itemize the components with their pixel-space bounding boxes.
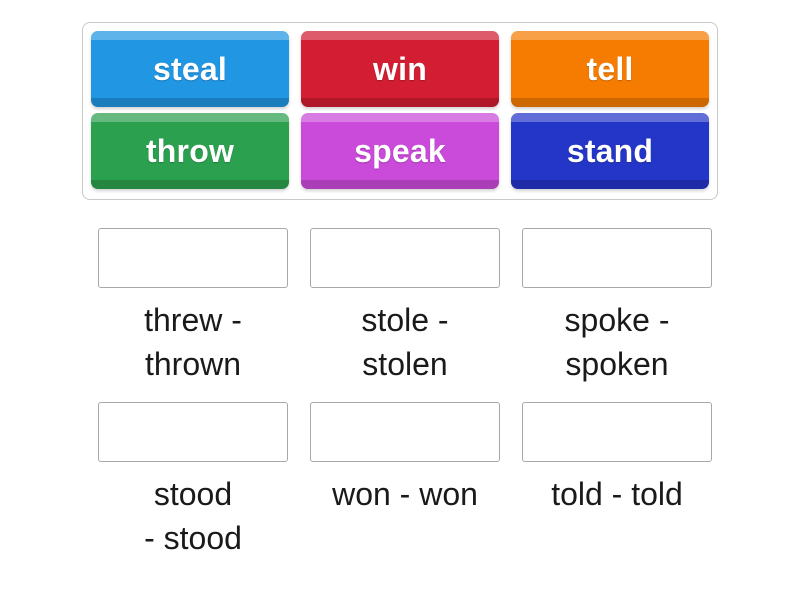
answer-cell-stole-stolen: stole - stolen	[310, 228, 500, 386]
answer-row-2: stood - stood won - won told - told	[98, 402, 712, 560]
word-tile-label: tell	[586, 51, 633, 88]
word-bank-row-1: steal win tell	[91, 31, 709, 109]
word-bank-row-2: throw speak stand	[91, 113, 709, 191]
word-tile-label: stand	[567, 133, 653, 170]
word-tile-tell[interactable]: tell	[511, 31, 709, 107]
drop-zone-told-told[interactable]	[522, 402, 712, 462]
word-tile-win[interactable]: win	[301, 31, 499, 107]
answer-grid: threw - thrown stole - stolen spoke - sp…	[98, 228, 712, 576]
drop-zone-won-won[interactable]	[310, 402, 500, 462]
word-tile-steal[interactable]: steal	[91, 31, 289, 107]
answer-label-spoke-spoken: spoke - spoken	[565, 298, 670, 386]
word-tile-throw[interactable]: throw	[91, 113, 289, 189]
drop-zone-threw-thrown[interactable]	[98, 228, 288, 288]
word-tile-speak[interactable]: speak	[301, 113, 499, 189]
answer-cell-spoke-spoken: spoke - spoken	[522, 228, 712, 386]
answer-label-stole-stolen: stole - stolen	[361, 298, 448, 386]
activity-canvas: steal win tell throw speak stand	[0, 0, 800, 600]
answer-cell-threw-thrown: threw - thrown	[98, 228, 288, 386]
word-bank: steal win tell throw speak stand	[82, 22, 718, 200]
answer-cell-told-told: told - told	[522, 402, 712, 560]
word-tile-label: win	[373, 51, 427, 88]
answer-row-1: threw - thrown stole - stolen spoke - sp…	[98, 228, 712, 386]
answer-label-won-won: won - won	[332, 472, 478, 516]
word-tile-label: throw	[146, 133, 234, 170]
answer-cell-won-won: won - won	[310, 402, 500, 560]
word-tile-label: speak	[354, 133, 446, 170]
answer-label-threw-thrown: threw - thrown	[144, 298, 242, 386]
drop-zone-spoke-spoken[interactable]	[522, 228, 712, 288]
word-tile-stand[interactable]: stand	[511, 113, 709, 189]
drop-zone-stole-stolen[interactable]	[310, 228, 500, 288]
answer-label-stood-stood: stood - stood	[144, 472, 242, 560]
word-tile-label: steal	[153, 51, 227, 88]
drop-zone-stood-stood[interactable]	[98, 402, 288, 462]
answer-cell-stood-stood: stood - stood	[98, 402, 288, 560]
answer-label-told-told: told - told	[551, 472, 683, 516]
